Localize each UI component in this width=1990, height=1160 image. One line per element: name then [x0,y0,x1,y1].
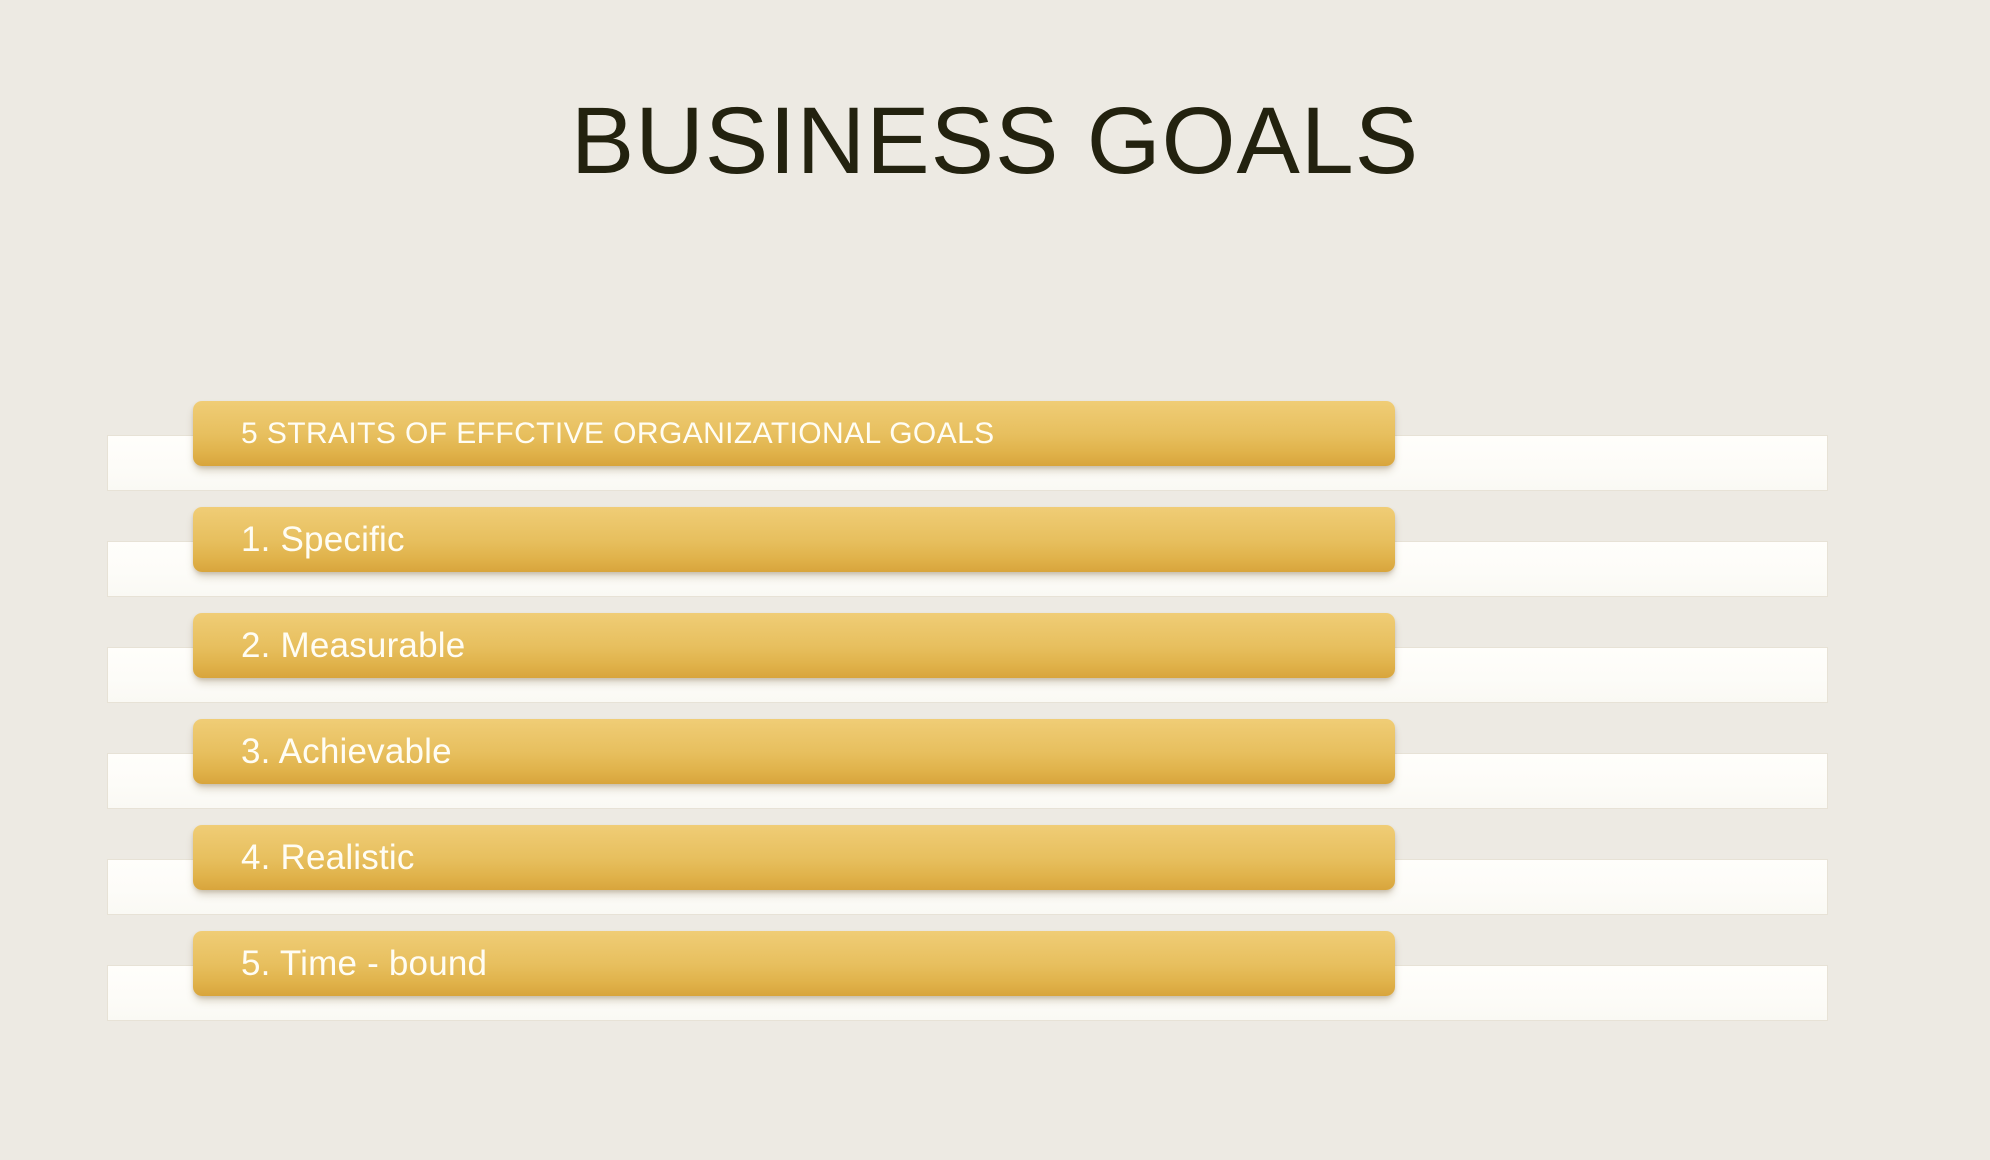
goal-label-specific: 1. Specific [193,522,405,557]
goal-label-measurable: 2. Measurable [193,628,465,663]
goal-bar-header[interactable]: 5 STRAITS OF EFFCTIVE ORGANIZATIONAL GOA… [193,401,1395,466]
goal-bar-realistic[interactable]: 4. Realistic [193,825,1395,890]
goal-bar-achievable[interactable]: 3. Achievable [193,719,1395,784]
goal-row-measurable[interactable]: 2. Measurable [0,613,1990,719]
goal-row-time-bound[interactable]: 5. Time - bound [0,931,1990,1037]
page-title: BUSINESS GOALS [0,92,1990,192]
goal-bar-measurable[interactable]: 2. Measurable [193,613,1395,678]
slide-canvas: BUSINESS GOALS 5 STRAITS OF EFFCTIVE ORG… [0,0,1990,1160]
goal-bar-specific[interactable]: 1. Specific [193,507,1395,572]
goal-row-specific[interactable]: 1. Specific [0,507,1990,613]
goal-bar-time-bound[interactable]: 5. Time - bound [193,931,1395,996]
goal-label-realistic: 4. Realistic [193,840,415,875]
goal-label-time-bound: 5. Time - bound [193,946,487,981]
goal-row-achievable[interactable]: 3. Achievable [0,719,1990,825]
goals-list: 5 STRAITS OF EFFCTIVE ORGANIZATIONAL GOA… [0,401,1990,1041]
goal-row-realistic[interactable]: 4. Realistic [0,825,1990,931]
goal-label-achievable: 3. Achievable [193,734,452,769]
goal-label-header: 5 STRAITS OF EFFCTIVE ORGANIZATIONAL GOA… [193,419,995,449]
goal-row-header[interactable]: 5 STRAITS OF EFFCTIVE ORGANIZATIONAL GOA… [0,401,1990,507]
